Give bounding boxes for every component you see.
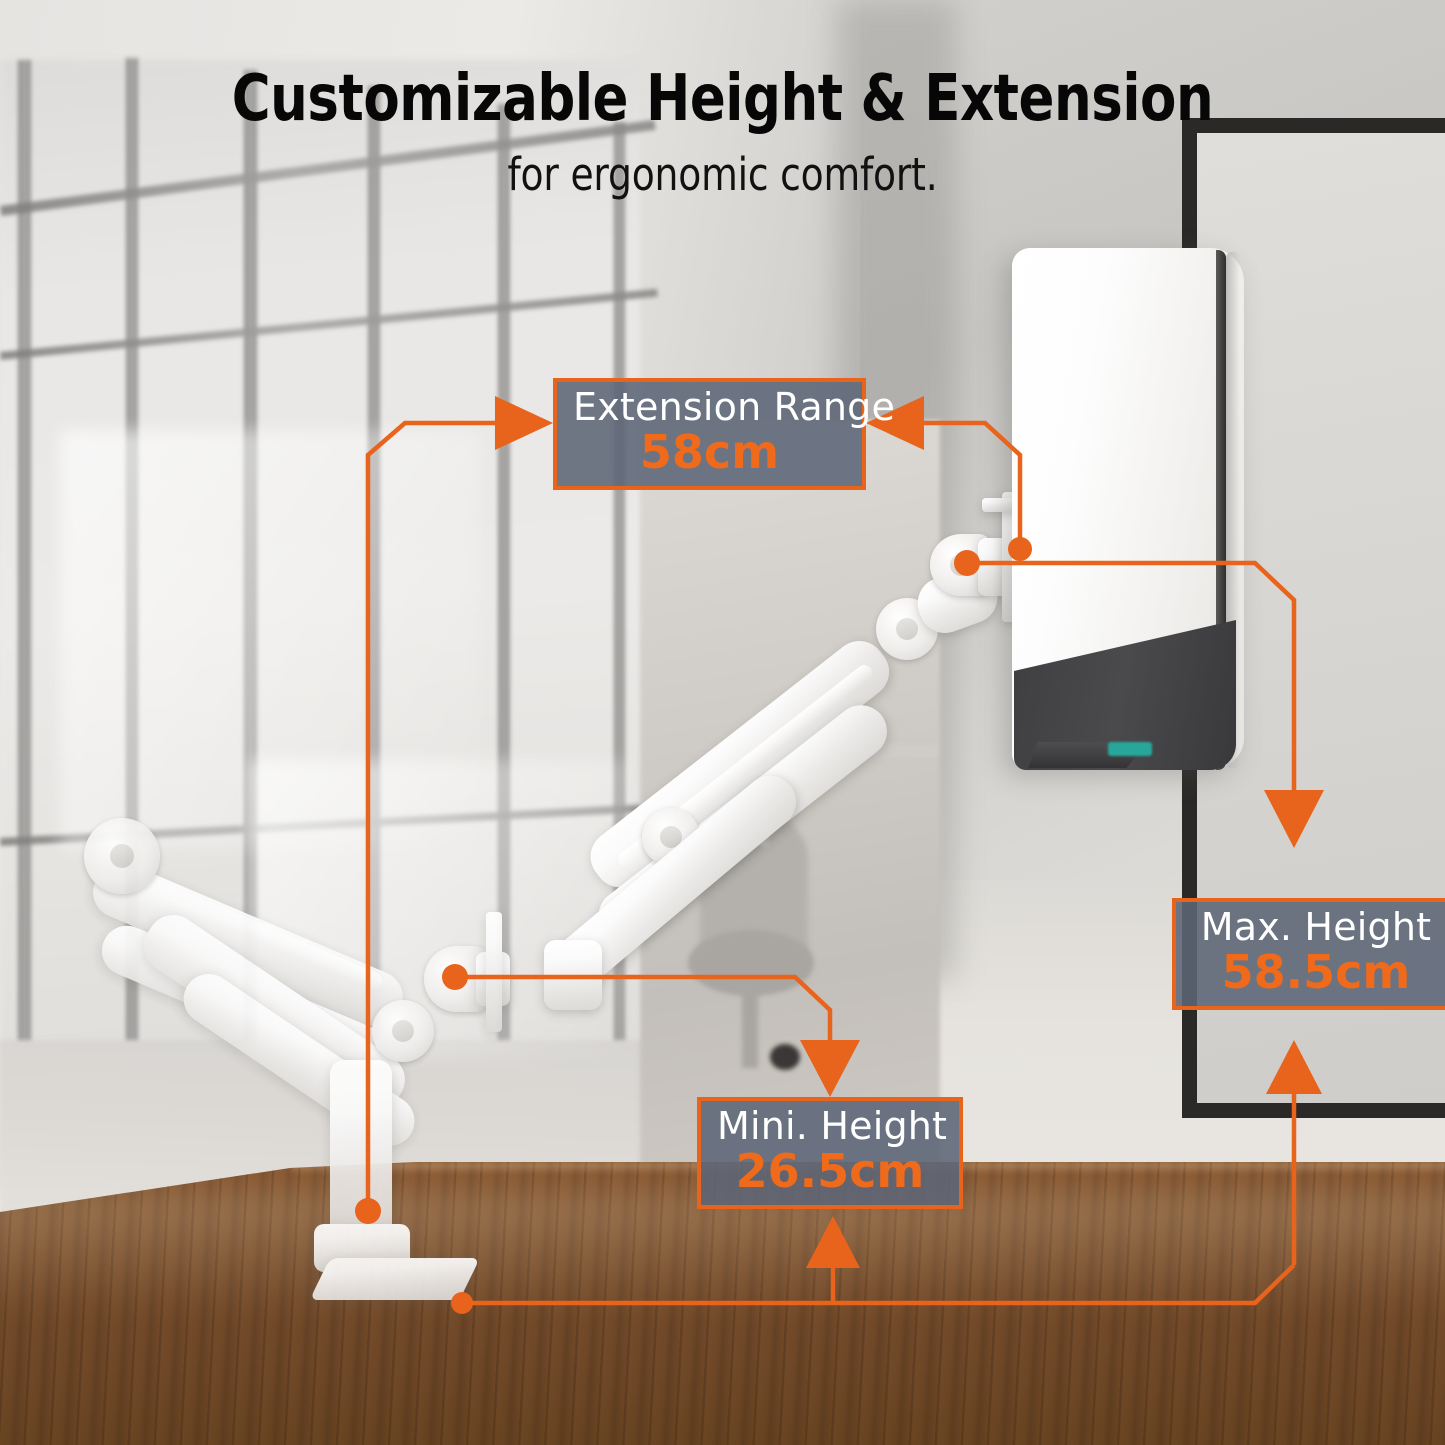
leader-lines: [0, 0, 1445, 1445]
anchor-dot-icon: [355, 1198, 381, 1224]
callout-extension-range[interactable]: Extension Range 58cm: [553, 378, 866, 490]
callout-value: 58.5cm: [1192, 949, 1440, 996]
infographic-canvas: Extension Range 58cm Max. Height 58.5cm …: [0, 0, 1445, 1445]
arrow-up-icon: [1266, 1040, 1322, 1094]
callout-max-height[interactable]: Max. Height 58.5cm: [1172, 898, 1445, 1010]
leader-max-height-top: [967, 563, 1294, 838]
annotation-overlay: Extension Range 58cm Max. Height 58.5cm …: [0, 0, 1445, 1445]
callout-label: Extension Range: [573, 388, 846, 427]
arrow-down-icon: [800, 1040, 860, 1097]
leader-min-height-top: [455, 977, 830, 1088]
page-subtitle: for ergonomic comfort.: [51, 148, 1395, 201]
callout-value: 26.5cm: [717, 1148, 943, 1195]
arrow-up-icon: [806, 1216, 860, 1268]
anchor-dot-icon: [954, 550, 980, 576]
anchor-dot-icon: [451, 1292, 473, 1314]
arrow-right-icon: [495, 396, 553, 450]
leader-desk-baseline: [462, 1265, 1294, 1303]
callout-min-height[interactable]: Mini. Height 26.5cm: [697, 1097, 963, 1209]
anchor-dot-icon: [1008, 537, 1032, 561]
anchor-dot-icon: [442, 964, 468, 990]
leader-extension-left: [368, 423, 527, 1211]
callout-value: 58cm: [573, 429, 846, 476]
arrow-down-icon: [1264, 790, 1324, 848]
callout-label: Max. Height: [1192, 908, 1440, 947]
callout-label: Mini. Height: [717, 1107, 943, 1146]
page-title: Customizable Height & Extension: [58, 62, 1387, 136]
